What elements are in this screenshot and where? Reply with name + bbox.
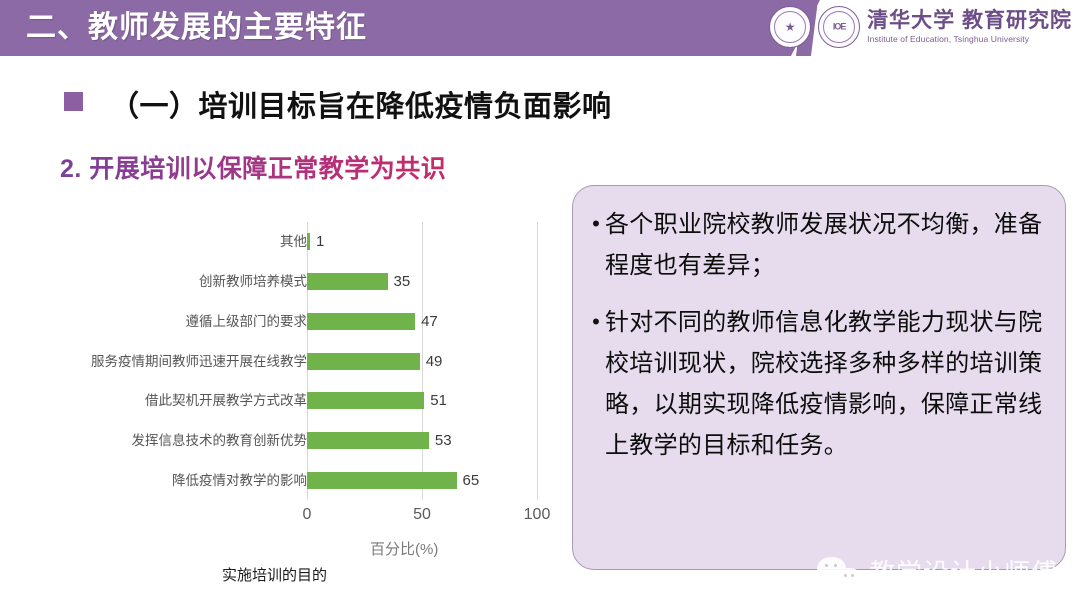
chart-bar-value-label: 49 [426, 353, 443, 370]
chart-bar-value-label: 65 [463, 472, 480, 489]
chart-bar-row: 65 [307, 472, 479, 489]
chart-category-label: 遵循上级部门的要求 [47, 313, 307, 330]
logo-name-en: Institute of Education, Tsinghua Univers… [867, 35, 1072, 44]
chart-bar-row: 35 [307, 273, 410, 290]
chart-bar [307, 392, 424, 409]
seal-monogram-glyph: IOE [833, 23, 846, 32]
chart-x-tick-label: 100 [524, 506, 551, 524]
bar-chart: 1354749515365 其他创新教师培养模式遵循上级部门的要求服务疫情期间教… [30, 210, 550, 550]
chart-bar-row: 51 [307, 392, 447, 409]
chart-category-label: 降低疫情对教学的影响 [47, 472, 307, 489]
chart-category-label: 发挥信息技术的教育创新优势 [47, 432, 307, 449]
note-list-item: •针对不同的教师信息化教学能力现状与院校培训现状，院校选择多种多样的培训策略，以… [587, 302, 1049, 466]
tsinghua-seal-icon: ★ [769, 6, 811, 48]
logo-name-cn: 清华大学 教育研究院 [867, 10, 1072, 32]
chart-category-label: 创新教师培养模式 [47, 273, 307, 290]
summary-note-box: •各个职业院校教师发展状况不均衡，准备程度也有差异；•针对不同的教师信息化教学能… [572, 185, 1066, 570]
chart-category-label: 其他 [47, 233, 307, 250]
chart-bar-value-label: 1 [316, 233, 324, 250]
institution-logo: ★ IOE 清华大学 教育研究院 Institute of Education,… [769, 6, 1072, 48]
ioe-seal-icon: IOE [818, 6, 860, 48]
chart-x-axis-label: 百分比(%) [370, 538, 438, 559]
note-item-text: 各个职业院校教师发展状况不均衡，准备程度也有差异； [605, 204, 1049, 286]
chart-caption: 实施培训的目的 [222, 564, 327, 585]
chart-gridline [537, 222, 538, 500]
chart-x-tick-label: 0 [303, 506, 312, 524]
chart-category-label: 服务疫情期间教师迅速开展在线教学 [47, 353, 307, 370]
note-item-text: 针对不同的教师信息化教学能力现状与院校培训现状，院校选择多种多样的培训策略，以期… [605, 302, 1049, 466]
watermark-label: 教学设计小师傅 [869, 553, 1058, 590]
chart-bar [307, 313, 415, 330]
slide-header: 二、教师发展的主要特征 ★ IOE 清华大学 教育研究院 Institute o… [0, 0, 1080, 56]
chart-bar-value-label: 47 [421, 313, 438, 330]
chart-bar-row: 49 [307, 353, 442, 370]
chart-bar-value-label: 35 [394, 273, 411, 290]
chart-bar [307, 353, 420, 370]
chart-bar-value-label: 51 [430, 392, 447, 409]
chart-plot-area: 1354749515365 [307, 222, 537, 500]
seal-star-glyph: ★ [785, 21, 796, 33]
chart-bar-value-label: 53 [435, 432, 452, 449]
page-title: 二、教师发展的主要特征 [26, 5, 367, 51]
chart-bar [307, 273, 388, 290]
section-subtitle: 2. 开展培训以保障正常教学为共识 [60, 149, 446, 185]
chart-bar-row: 47 [307, 313, 438, 330]
section-bullet-icon [64, 92, 83, 111]
chart-x-tick-label: 50 [413, 506, 431, 524]
section-title: （一）培训目标旨在降低疫情负面影响 [110, 83, 612, 125]
chart-category-label: 借此契机开展教学方式改革 [47, 392, 307, 409]
chart-bar [307, 233, 310, 250]
bullet-dot-icon: • [587, 302, 605, 342]
logo-text-block: 清华大学 教育研究院 Institute of Education, Tsing… [867, 10, 1072, 44]
chart-bar-row: 1 [307, 233, 324, 250]
wechat-icon [817, 557, 861, 587]
chart-bar-row: 53 [307, 432, 452, 449]
chart-bar [307, 472, 457, 489]
chart-bar [307, 432, 429, 449]
note-list-item: •各个职业院校教师发展状况不均衡，准备程度也有差异； [587, 204, 1049, 286]
wechat-watermark: 教学设计小师傅 [817, 553, 1058, 590]
bullet-dot-icon: • [587, 204, 605, 244]
